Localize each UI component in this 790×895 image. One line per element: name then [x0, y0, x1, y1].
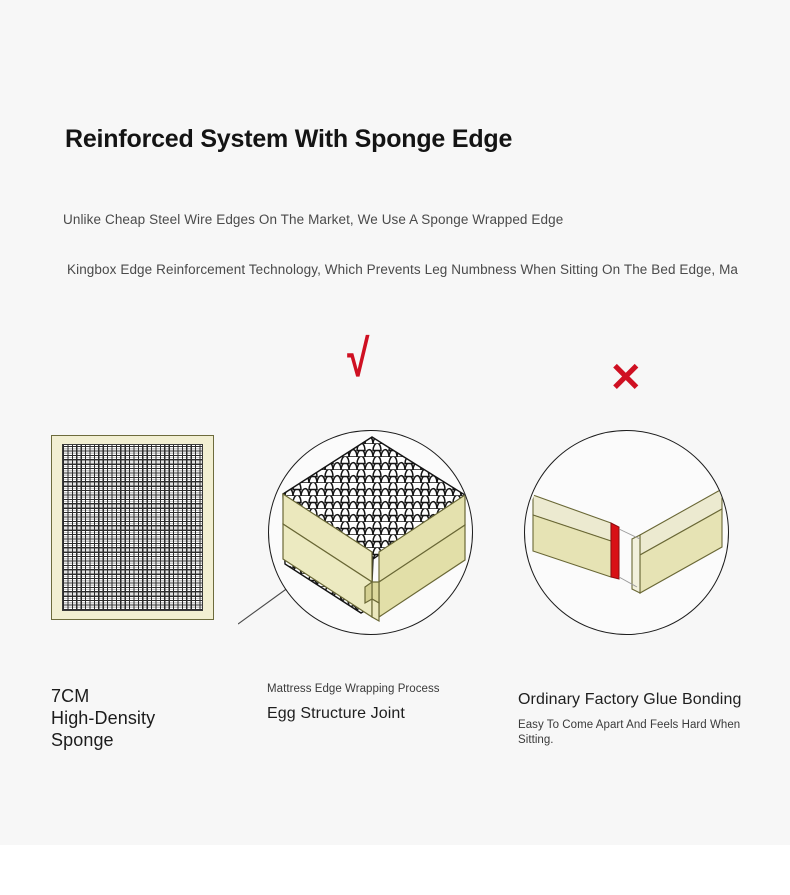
sponge-mesh-pattern: [62, 444, 203, 611]
caption-spacer: [267, 697, 492, 704]
caption-glue-bonding-big: Ordinary Factory Glue Bonding: [518, 690, 753, 711]
caption-sponge-line3: Sponge: [51, 730, 241, 752]
caption-sponge-line2: High-Density: [51, 708, 241, 730]
content-panel: Reinforced System With Sponge Edge Unlik…: [0, 0, 790, 845]
caption-egg-joint: Mattress Edge Wrapping Process Egg Struc…: [267, 682, 492, 725]
caption-spacer: [518, 711, 753, 718]
page-title: Reinforced System With Sponge Edge: [65, 125, 512, 154]
egg-structure-joint-icon: [268, 430, 473, 635]
caption-sponge-line1: 7CM: [51, 686, 241, 708]
caption-glue-bonding: Ordinary Factory Glue Bonding Easy To Co…: [518, 690, 753, 748]
caption-glue-bonding-small: Easy To Come Apart And Feels Hard When S…: [518, 718, 753, 748]
cross-mark-icon: ✕: [609, 358, 643, 398]
product-detail-page: Reinforced System With Sponge Edge Unlik…: [0, 0, 790, 895]
caption-egg-joint-small: Mattress Edge Wrapping Process: [267, 682, 492, 697]
glue-bonding-joint-icon: [524, 430, 729, 635]
caption-egg-joint-big: Egg Structure Joint: [267, 704, 492, 725]
check-mark-icon: √: [347, 333, 369, 385]
caption-sponge: 7CM High-Density Sponge: [51, 686, 241, 752]
lead-paragraph-1: Unlike Cheap Steel Wire Edges On The Mar…: [63, 212, 563, 227]
lead-paragraph-2: Kingbox Edge Reinforcement Technology, W…: [67, 262, 738, 277]
sponge-mesh-icon: [51, 435, 214, 620]
